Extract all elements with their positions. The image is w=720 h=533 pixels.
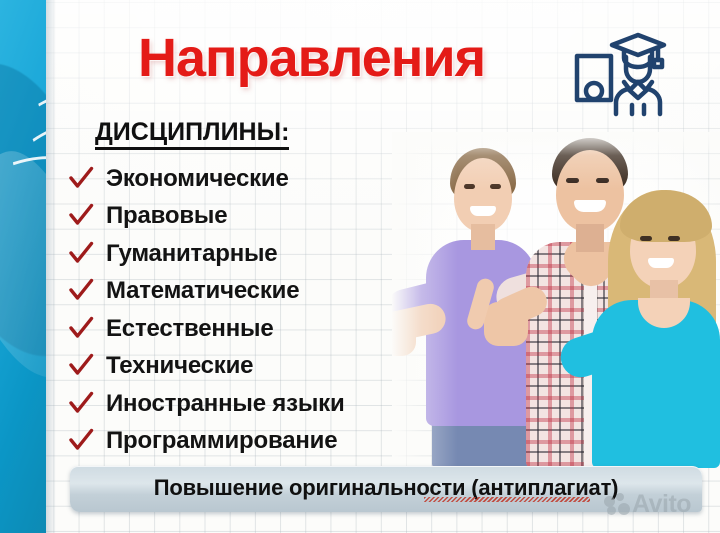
middle-student-head <box>556 150 624 232</box>
check-icon <box>68 165 94 191</box>
discipline-label: Программирование <box>106 427 337 455</box>
list-item: Технические <box>68 348 468 386</box>
list-item: Математические <box>68 273 468 311</box>
check-icon <box>68 427 94 453</box>
middle-student-hand <box>484 302 528 346</box>
list-item: Иностранные языки <box>68 385 468 423</box>
discipline-label: Правовые <box>106 202 227 230</box>
middle-student-eye-left <box>566 178 579 183</box>
disciplines-list: Экономические Правовые Гуманитарные Мате… <box>68 160 468 460</box>
disciplines-heading: ДИСЦИПЛИНЫ: <box>95 118 289 147</box>
check-icon <box>68 240 94 266</box>
list-item: Естественные <box>68 310 468 348</box>
check-icon <box>68 315 94 341</box>
discipline-label: Экономические <box>106 165 289 193</box>
middle-student-neck <box>576 224 604 252</box>
list-item: Правовые <box>68 198 468 236</box>
middle-student-smile <box>574 200 606 212</box>
avito-watermark: Avito <box>604 490 691 519</box>
avito-wordmark: Avito <box>632 490 691 519</box>
discipline-label: Технические <box>106 352 253 380</box>
middle-student-eye-right <box>596 178 609 183</box>
check-icon <box>68 390 94 416</box>
left-student-neck <box>471 224 495 250</box>
check-icon <box>68 277 94 303</box>
discipline-label: Иностранные языки <box>106 390 345 418</box>
spellcheck-underline <box>424 497 590 502</box>
left-student-eye-right <box>490 184 501 189</box>
disciplines-heading-text: ДИСЦИПЛИНЫ: <box>95 118 289 150</box>
discipline-label: Гуманитарные <box>106 240 277 268</box>
check-icon <box>68 352 94 378</box>
list-item: Гуманитарные <box>68 235 468 273</box>
list-item: Экономические <box>68 160 468 198</box>
band-edge-shadow <box>46 0 56 533</box>
left-blue-band <box>0 0 46 533</box>
check-icon <box>68 202 94 228</box>
right-student-eye-left <box>640 236 652 241</box>
poster-canvas: Направления <box>0 0 720 533</box>
avito-logo-icon <box>604 493 630 517</box>
graduate-icon <box>572 28 676 120</box>
discipline-label: Математические <box>106 277 299 305</box>
discipline-label: Естественные <box>106 315 273 343</box>
right-student-eye-right <box>668 236 680 241</box>
list-item: Программирование <box>68 423 468 461</box>
page-title: Направления <box>138 30 485 87</box>
left-student-smile <box>470 206 496 216</box>
right-student-smile <box>648 258 674 268</box>
